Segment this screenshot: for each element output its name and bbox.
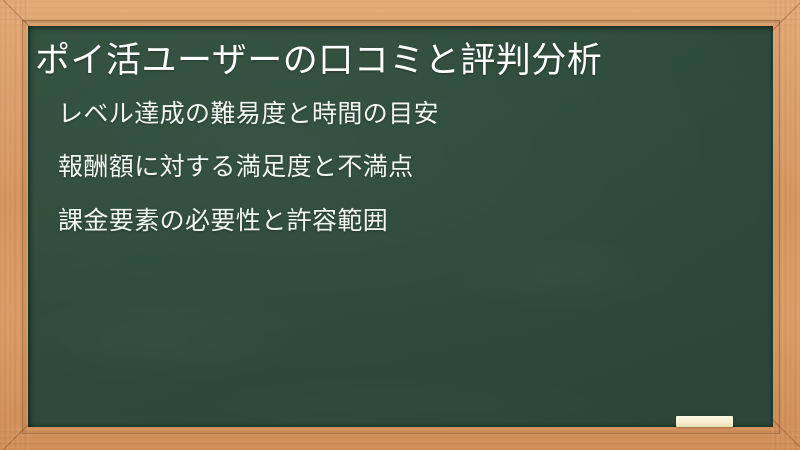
bullet-list: レベル達成の難易度と時間の目安 報酬額に対する満足度と不満点 課金要素の必要性と… [28,84,773,236]
frame-stile-right [770,0,800,450]
bullet-item-3: 課金要素の必要性と許容範囲 [58,207,773,236]
frame-rail-top [0,0,800,26]
slide-title: ポイ活ユーザーの口コミと評判分析 [28,36,773,84]
frame-rail-bottom [0,426,800,450]
chalkboard-surface: ポイ活ユーザーの口コミと評判分析 レベル達成の難易度と時間の目安 報酬額に対する… [28,26,773,427]
frame-stile-left [0,0,30,450]
bullet-item-1: レベル達成の難易度と時間の目安 [58,100,773,129]
chalkboard-slide: ポイ活ユーザーの口コミと評判分析 レベル達成の難易度と時間の目安 報酬額に対する… [0,0,800,450]
bullet-item-2: 報酬額に対する満足度と不満点 [58,153,773,182]
board-content: ポイ活ユーザーの口コミと評判分析 レベル達成の難易度と時間の目安 報酬額に対する… [28,26,773,235]
chalk-stick-icon [676,416,733,427]
